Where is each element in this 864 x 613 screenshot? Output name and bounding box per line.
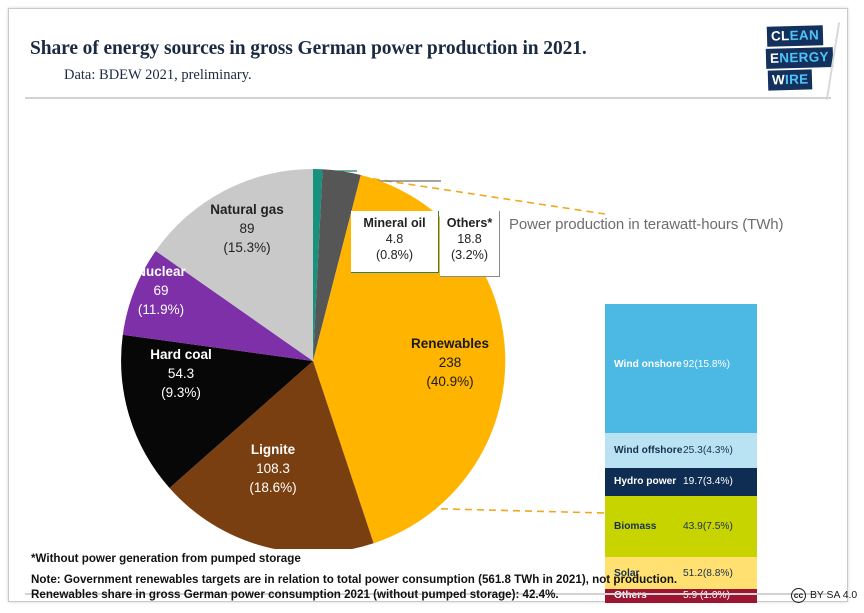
- unit-note: Power production in terawatt-hours (TWh): [509, 216, 783, 233]
- pie-label-hard-coal-value: 54.3: [168, 366, 194, 381]
- logo-wire-suffix: IRE: [785, 71, 809, 87]
- stack-segment-wind-offshore[interactable]: Wind offshore 25.3(4.3%): [605, 433, 757, 468]
- stack-segment-hydro-power[interactable]: Hydro power 19.7(3.4%): [605, 468, 757, 496]
- pie-label-renewables-name: Renewables: [411, 336, 489, 351]
- pie-label-lignite-percent: (18.6%): [249, 480, 296, 495]
- clean-energy-wire-logo[interactable]: CLEAN ENERGY WIRE: [766, 26, 838, 94]
- stack-value-biomass: 43.9(7.5%): [683, 521, 733, 532]
- chart-frame: Share of energy sources in gross German …: [8, 8, 848, 602]
- footnote-asterisk: *Without power generation from pumped st…: [31, 552, 301, 565]
- license-text: BY SA 4.0: [810, 590, 857, 601]
- logo-clean-suffix: EAN: [789, 27, 819, 43]
- callout-mineral-oil: Mineral oil 4.8 (0.8%): [351, 211, 439, 273]
- data-source-subtitle: Data: BDEW 2021, preliminary.: [64, 67, 252, 84]
- callout-others: Others* 18.8 (3.2%): [440, 211, 500, 277]
- stack-value-hydro-power: 19.7(3.4%): [683, 476, 733, 487]
- pie-label-natural-gas-name: Natural gas: [210, 202, 284, 217]
- callout-mineral-oil-value: 4.8: [351, 231, 438, 247]
- chart-plot-area: Renewables 238 (40.9%) Lignite 108.3 (18…: [9, 99, 849, 549]
- footnote-note-line-2: Renewables share in gross German power c…: [31, 588, 559, 601]
- pie-label-renewables-value: 238: [439, 355, 462, 370]
- footnote-note-line-1: Note: Government renewables targets are …: [31, 573, 677, 586]
- pie-label-nuclear-name: Nuclear: [136, 264, 186, 279]
- stack-label-wind-onshore: Wind onshore: [614, 359, 682, 370]
- pie-label-natural-gas-percent: (15.3%): [223, 240, 270, 255]
- logo-line-wire: WIRE: [768, 69, 813, 90]
- stack-segment-biomass[interactable]: Biomass 43.9(7.5%): [605, 496, 757, 557]
- chart-footnotes: *Without power generation from pumped st…: [9, 549, 849, 603]
- stack-value-wind-offshore: 25.3(4.3%): [683, 445, 733, 456]
- stack-segment-wind-onshore[interactable]: Wind onshore 92(15.8%): [605, 304, 757, 433]
- pie-label-nuclear-value: 69: [153, 283, 168, 298]
- pie-label-natural-gas-value: 89: [239, 221, 254, 236]
- pie-label-renewables-percent: (40.9%): [426, 374, 473, 389]
- stack-label-biomass: Biomass: [614, 521, 656, 532]
- logo-line-clean: CLEAN: [767, 25, 824, 47]
- pie-label-hard-coal-name: Hard coal: [150, 347, 212, 362]
- callout-others-percent: (3.2%): [440, 247, 499, 263]
- pie-label-nuclear-percent: (11.9%): [138, 302, 184, 317]
- logo-line-energy: ENERGY: [766, 47, 833, 69]
- pie-label-lignite-value: 108.3: [256, 461, 290, 476]
- creative-commons-icon: cc: [791, 588, 806, 603]
- callout-mineral-oil-label: Mineral oil: [351, 215, 438, 231]
- creative-commons-license[interactable]: cc BY SA 4.0: [791, 588, 857, 603]
- callout-mineral-oil-percent: (0.8%): [351, 247, 438, 263]
- stack-label-wind-offshore: Wind offshore: [614, 445, 682, 456]
- chart-page: Share of energy sources in gross German …: [0, 0, 864, 613]
- logo-clean-prefix: CL: [771, 28, 790, 44]
- pie-label-lignite-name: Lignite: [251, 442, 296, 457]
- chart-header: Share of energy sources in gross German …: [9, 9, 849, 97]
- callout-others-label: Others*: [440, 215, 499, 231]
- logo-energy-suffix: NERGY: [779, 49, 829, 65]
- pie-label-hard-coal-percent: (9.3%): [161, 385, 201, 400]
- logo-wire-prefix: W: [772, 72, 785, 87]
- stack-label-hydro-power: Hydro power: [614, 476, 676, 487]
- callout-others-value: 18.8: [440, 231, 499, 247]
- page-title: Share of energy sources in gross German …: [30, 38, 587, 60]
- stack-value-wind-onshore: 92(15.8%): [683, 359, 730, 370]
